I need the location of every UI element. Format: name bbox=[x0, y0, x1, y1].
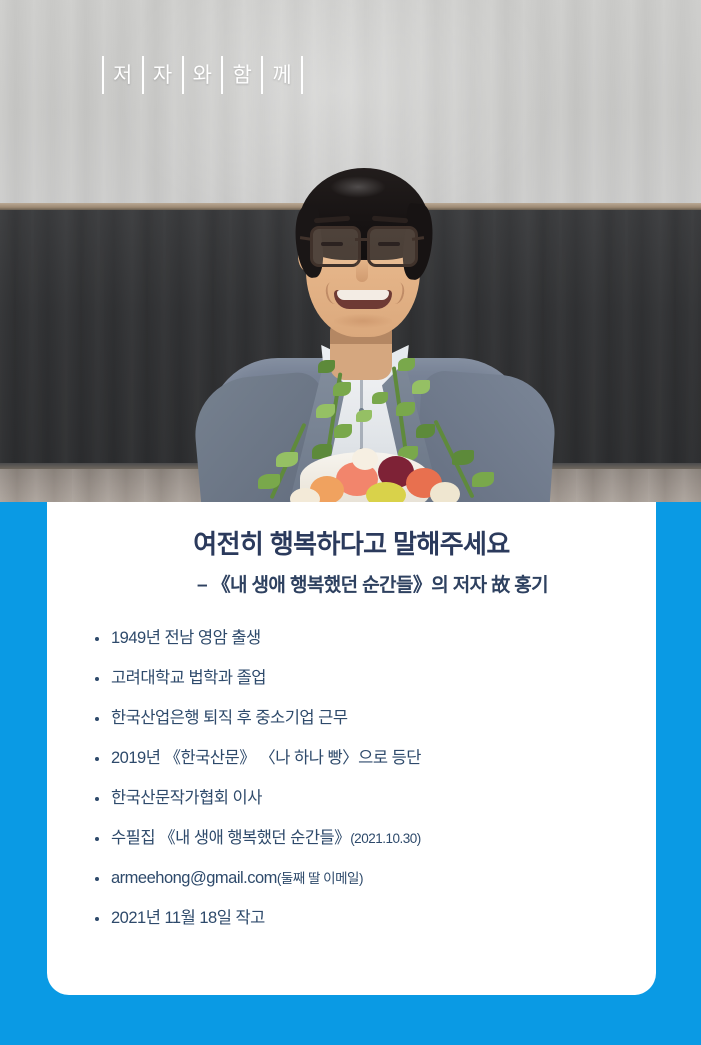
list-item: 고려대학교 법학과 졸업 bbox=[95, 669, 656, 687]
brand-char-4: 함 bbox=[232, 65, 252, 86]
bouquet-flower bbox=[430, 482, 460, 502]
author-facts-list: 1949년 전남 영암 출생 고려대학교 법학과 졸업 한국산업은행 퇴직 후 … bbox=[47, 629, 656, 928]
page-subtitle: – 《내 생애 행복했던 순간들》의 저자 故 홍기 bbox=[47, 570, 656, 597]
brand-label: 저 자 와 함 께 bbox=[93, 56, 312, 94]
bouquet-leaf bbox=[396, 402, 415, 416]
bouquet-leaf bbox=[416, 424, 435, 438]
list-item: 2021년 11월 18일 작고 bbox=[95, 909, 656, 927]
brand-char-1: 저 bbox=[113, 65, 133, 86]
fact-note: (둘째 딸 이메일) bbox=[277, 871, 363, 886]
bouquet-flower bbox=[352, 448, 378, 470]
brand-divider-bar bbox=[142, 56, 144, 94]
list-item: 수필집 《내 생애 행복했던 순간들》(2021.10.30) bbox=[95, 829, 656, 847]
list-item: 한국산업은행 퇴직 후 중소기업 근무 bbox=[95, 709, 656, 727]
fact-text: 2019년 《한국산문》 〈나 하나 빵〉으로 등단 bbox=[111, 749, 421, 767]
brand-char-2: 자 bbox=[153, 65, 173, 86]
fact-text: 1949년 전남 영암 출생 bbox=[111, 629, 261, 647]
fact-text: 고려대학교 법학과 졸업 bbox=[111, 669, 266, 687]
page-title: 여전히 행복하다고 말해주세요 bbox=[47, 528, 656, 561]
brand-divider-bar bbox=[221, 56, 223, 94]
brand-char-5: 께 bbox=[272, 65, 292, 86]
bouquet-leaf bbox=[372, 392, 388, 404]
author-info-card: 여전히 행복하다고 말해주세요 – 《내 생애 행복했던 순간들》의 저자 故 … bbox=[47, 502, 656, 995]
bouquet-leaf bbox=[333, 382, 351, 396]
bouquet-leaf bbox=[316, 404, 335, 418]
brand-divider-bar bbox=[301, 56, 303, 94]
bouquet-leaf bbox=[334, 424, 352, 438]
fact-text: 수필집 《내 생애 행복했던 순간들》 bbox=[111, 829, 350, 847]
bouquet-leaf bbox=[276, 452, 298, 467]
author-profile-poster: 저 자 와 함 께 여전히 행복하다고 말해주세요 – 《내 생애 행복했던 순… bbox=[0, 0, 701, 1045]
bouquet-leaf bbox=[318, 360, 335, 373]
bouquet-leaf bbox=[472, 472, 494, 487]
list-item-email: armeehong@gmail.com(둘째 딸 이메일) bbox=[95, 869, 656, 887]
fact-text: 한국산문작가협회 이사 bbox=[111, 789, 262, 807]
bouquet-leaf bbox=[412, 380, 430, 394]
fact-text: 2021년 11월 18일 작고 bbox=[111, 909, 265, 927]
author-photo: 저 자 와 함 께 bbox=[0, 0, 701, 502]
bouquet-flower bbox=[366, 482, 406, 502]
fact-note: (2021.10.30) bbox=[350, 831, 421, 846]
fact-text: armeehong@gmail.com bbox=[111, 869, 277, 887]
bouquet-leaf bbox=[452, 450, 474, 465]
list-item: 1949년 전남 영암 출생 bbox=[95, 629, 656, 647]
brand-divider-bar bbox=[182, 56, 184, 94]
brand-divider-bar bbox=[261, 56, 263, 94]
bouquet-leaf bbox=[398, 358, 415, 371]
brand-divider-bar bbox=[102, 56, 104, 94]
bouquet-leaf bbox=[356, 410, 372, 422]
fact-text: 한국산업은행 퇴직 후 중소기업 근무 bbox=[111, 709, 348, 727]
brand-char-3: 와 bbox=[193, 65, 213, 86]
bouquet-leaf bbox=[258, 474, 280, 489]
list-item: 2019년 《한국산문》 〈나 하나 빵〉으로 등단 bbox=[95, 749, 656, 767]
list-item: 한국산문작가협회 이사 bbox=[95, 789, 656, 807]
